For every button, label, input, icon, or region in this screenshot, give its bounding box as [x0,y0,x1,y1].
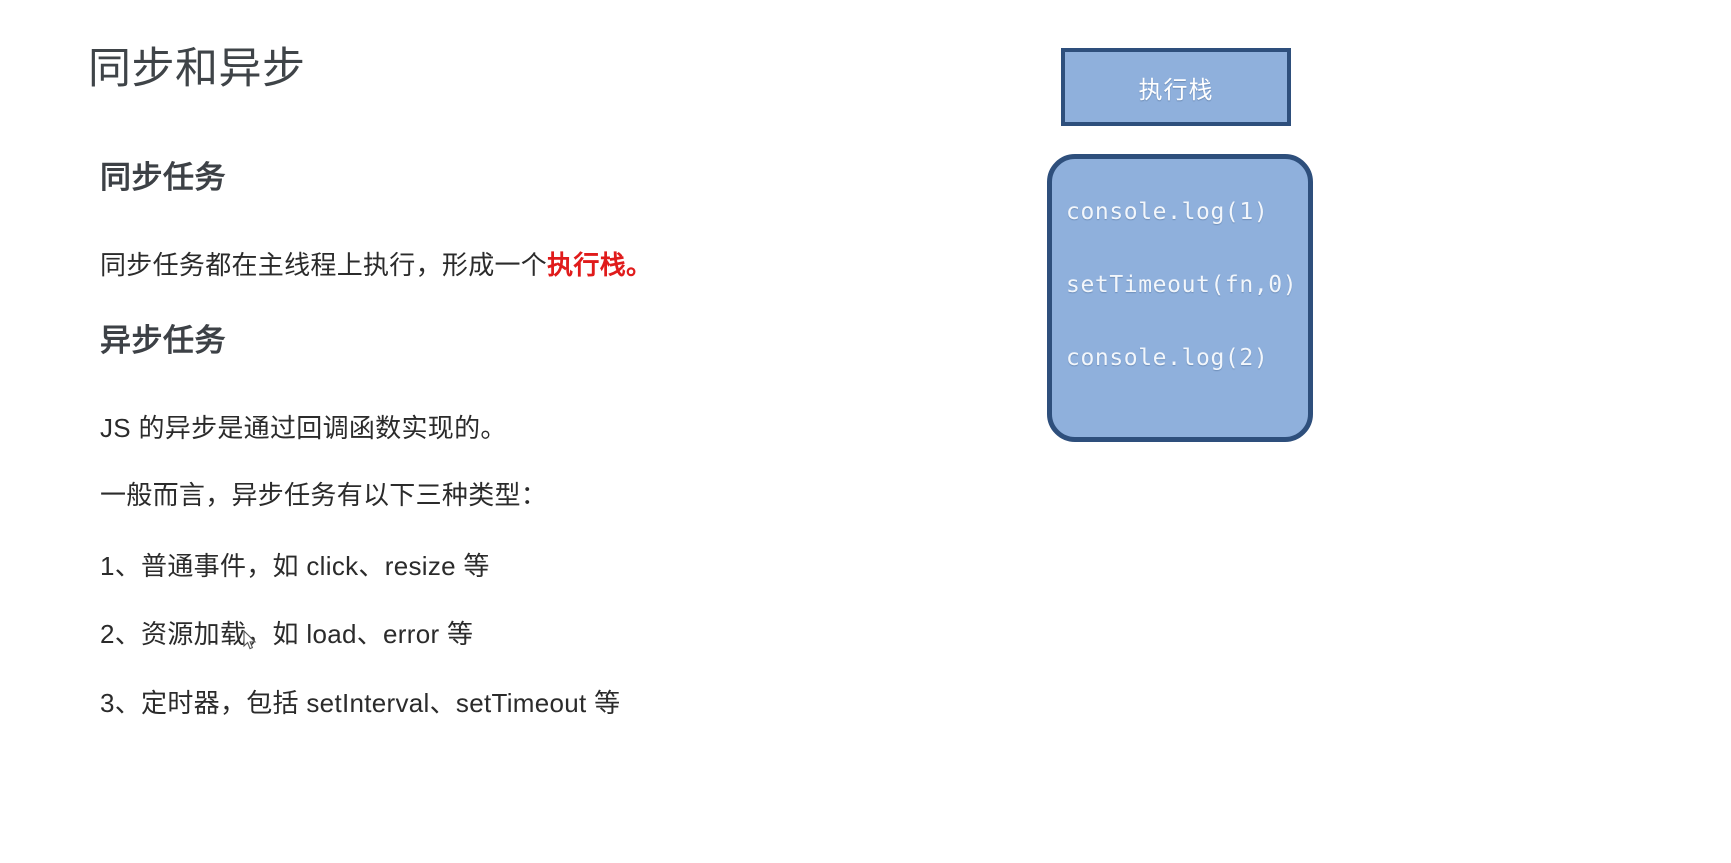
section-heading-sync-task: 同步任务 [100,159,226,196]
paragraph-async-callback: JS 的异步是通过回调函数实现的。 [100,412,507,445]
list-item-async-type-1: 1、普通事件，如 click、resize 等 [100,550,490,583]
execution-stack-diagram: 执行栈 console.log(1) setTimeout(fn,0) cons… [1047,0,1347,520]
list-item-async-type-3: 3、定时器，包括 setInterval、setTimeout 等 [100,687,620,720]
article-content: 同步和异步 同步任务 同步任务都在主线程上执行，形成一个执行栈。 异步任务 JS… [88,0,988,863]
list-item-async-type-2: 2、资源加载，如 load、error 等 [100,618,473,651]
paragraph-async-types-lead: 一般而言，异步任务有以下三种类型： [100,479,547,512]
execution-stack-header-box: 执行栈 [1061,48,1291,126]
execution-stack-header-label: 执行栈 [1139,70,1214,105]
stack-frame-console-log-1: console.log(1) [1066,201,1308,224]
section-heading-async-task: 异步任务 [100,322,226,359]
stack-frame-set-timeout: setTimeout(fn,0) [1066,274,1308,297]
paragraph-sync-task: 同步任务都在主线程上执行，形成一个执行栈。 [100,249,652,282]
page-title: 同步和异步 [88,44,306,96]
emphasis-execution-stack: 执行栈。 [547,250,652,280]
stack-frame-console-log-2: console.log(2) [1066,347,1308,370]
paragraph-sync-task-text: 同步任务都在主线程上执行，形成一个 [100,250,547,280]
execution-stack-body-box: console.log(1) setTimeout(fn,0) console.… [1047,154,1313,442]
